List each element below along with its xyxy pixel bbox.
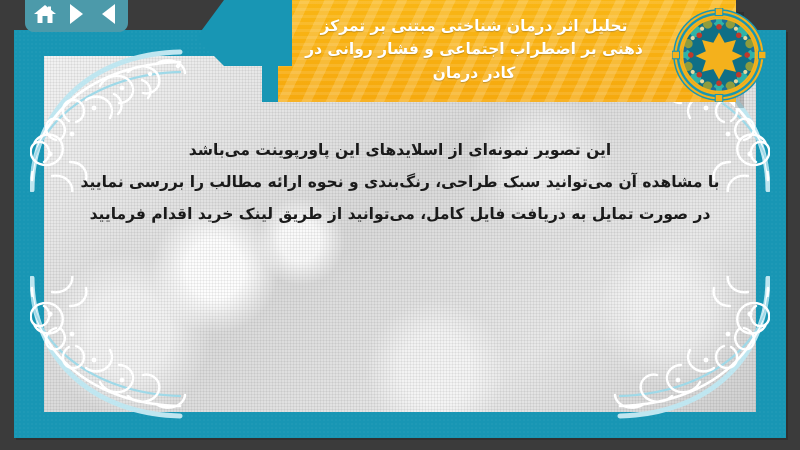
body-line-2: با مشاهده آن می‌توانید سبک طراحی، رنگ‌بن… [60, 170, 740, 195]
slide-title-banner: تحلیل اثر درمان شناختی مبتنی بر تمرکز ذه… [276, 0, 736, 102]
body-line-3: در صورت تمایل به دریافت فایل کامل، می‌تو… [60, 202, 740, 227]
next-slide-button[interactable] [65, 3, 89, 25]
home-icon [33, 3, 57, 25]
persian-medallion-ornament [672, 8, 766, 102]
slide-body-text: این تصویر نمونه‌ای از اسلایدهای این پاور… [60, 138, 740, 234]
title-line-3: کادر درمان [290, 62, 658, 86]
triangle-left-icon [102, 4, 115, 24]
title-wedge [196, 0, 292, 66]
body-line-1: این تصویر نمونه‌ای از اسلایدهای این پاور… [60, 138, 740, 163]
title-line-2: ذهنی بر اضطراب اجتماعی و فشار روانی در [290, 38, 658, 62]
arabesque-corner-ornament [30, 276, 200, 426]
previous-slide-button[interactable] [97, 3, 121, 25]
slide-title: تحلیل اثر درمان شناختی مبتنی بر تمرکز ذه… [290, 15, 658, 86]
triangle-right-icon [70, 4, 83, 24]
home-button[interactable] [33, 3, 57, 25]
arabesque-corner-ornament [600, 276, 770, 426]
title-line-1: تحلیل اثر درمان شناختی مبتنی بر تمرکز [290, 15, 658, 39]
slide-viewer: این تصویر نمونه‌ای از اسلایدهای این پاور… [0, 0, 800, 450]
navigation-toolbar [25, 0, 128, 32]
